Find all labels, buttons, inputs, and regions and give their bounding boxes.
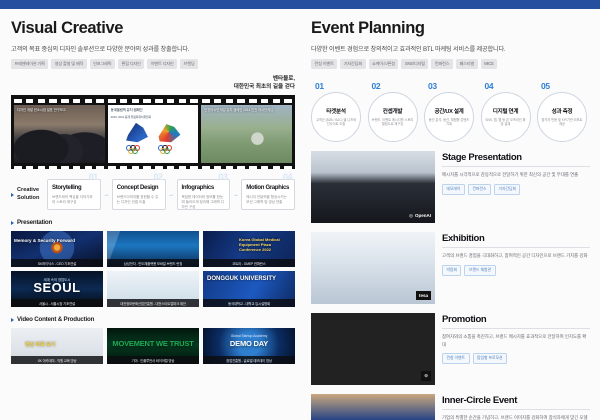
flow-step-desc: 메시지 전달력을 향상시키는 모션 그래픽 및 영상 연출: [246, 195, 290, 206]
flow-steps: 01 Storytelling 브랜드와의 핵심을 이야기하여 스토리 재구성 …: [47, 179, 295, 210]
process-step-title: 컨셉개발: [383, 107, 402, 115]
tag-pill[interactable]: MICE: [481, 59, 498, 69]
section-label-text: Video Content & Production: [17, 316, 94, 323]
thumb-overlay-text: Memory & Security Forward: [14, 238, 100, 244]
film-frame-aerial[interactable]: 인천아시안게임 유치 캠페인 2014 인천 아시안게임: [201, 105, 292, 163]
thumb-overlay-text: MOVEMENT WE TRUST: [107, 339, 199, 348]
process-step-2[interactable]: 02 컨셉개발 브랜드, 이벤트 메시지를 스토리텔링으로 재구성: [368, 81, 421, 142]
thumb-caption: 대전정보문화산업진흥원 - 대전스타트업파크 제안: [107, 299, 199, 307]
olympic-rings-icon: [126, 145, 148, 152]
process-step-5[interactable]: 05 성과 측정 참가자 반응 및 KPI기반 리포트 제공: [537, 81, 590, 142]
presentation-thumb[interactable]: Memory & Security Forward SK하이닉스 - CEO 기…: [11, 231, 103, 267]
subtitle-left: 고객의 목표 중심의 디자인 솔루션으로 다양한 분야의 성과를 창출합니다.: [11, 44, 295, 53]
process-step-1[interactable]: 01 타겟분석 고객군 (B2B / B2C) 별 니즈와 인사이트 도출: [311, 81, 364, 142]
tag-pill[interactable]: 페스티벌: [456, 59, 478, 69]
tag-pill[interactable]: 쇼케이스/론칭: [369, 59, 399, 69]
creative-solution-label-text: Creative Solution: [17, 187, 47, 202]
tag-pill[interactable]: 영상 촬영 및 제작: [51, 59, 86, 69]
process-step-number: 01: [311, 81, 364, 91]
card-description: 기업의 특별한 순간을 기념하고, 브랜드 이미지를 강화하여 참석자에게 맞긴…: [442, 414, 590, 420]
card-tag[interactable]: 박람회: [442, 265, 461, 276]
card-tag[interactable]: 데모데이: [442, 184, 465, 195]
service-card-stage-presentation[interactable]: ◎OpenAI Stage Presentation 메시지를 시각적으로 감동…: [311, 151, 590, 223]
thumb-caption: 서울시 - 서울시장 기조연설: [11, 299, 103, 307]
flow-step-motion-graphics[interactable]: 04 Motion Graphics 메시지 전달력을 향상시키는 모션 그래픽…: [241, 179, 295, 210]
creative-solution-label: Creative Solution: [11, 187, 47, 202]
thumb-overlay-text: DONGGUK UNIVERSITY: [207, 276, 292, 284]
card-image-promotion: ⊖: [311, 313, 435, 385]
service-card-inner-circle-event[interactable]: CJ4TEO Inner-Circle Event 기업의 특별한 순간을 기념…: [311, 394, 590, 420]
tag-pill[interactable]: SNS/디지털: [401, 59, 428, 69]
page-title-right: Event Planning: [311, 20, 590, 37]
film-frame-caption: 디자인 개발 컨소시엄 발표 연구보고: [17, 108, 102, 113]
process-step-title: 디지털 연계: [493, 107, 519, 115]
tag-pill[interactable]: 인포그래픽: [90, 59, 115, 69]
process-step-number: 02: [368, 81, 421, 91]
flow-arrow-icon: →: [166, 192, 177, 198]
two-column-layout: Visual Creative 고객의 목표 중심의 디자인 솔루션으로 다양한…: [0, 9, 600, 420]
process-step-title: 성과 측정: [552, 107, 573, 115]
card-image-inner-circle: CJ4TEO: [311, 394, 435, 420]
process-step-title: 타겟분석: [326, 107, 345, 115]
flow-step-storytelling[interactable]: 01 Storytelling 브랜드와의 핵심을 이야기하여 스토리 재구성: [47, 179, 101, 210]
process-step-3[interactable]: 03 공간/UX 설계 동선 분석, 동선, 체험형 콘텐츠 기획: [424, 81, 477, 142]
presentation-thumb[interactable]: 대전정보문화산업진흥원 - 대전스타트업파크 제안: [107, 271, 199, 307]
tesa-watermark: tesa: [416, 291, 431, 300]
process-step-number: 03: [424, 81, 477, 91]
top-accent-bar: [0, 0, 600, 9]
card-description: 메시지를 시각적으로 감동적으로 전달하기 위한 최신의 공간 및 무대를 연출: [442, 171, 590, 178]
triangle-bullet-icon: [11, 318, 14, 322]
card-tag[interactable]: 기자간담회: [494, 184, 520, 195]
process-step-number: 04: [481, 81, 534, 91]
card-image-stage: ◎OpenAI: [311, 151, 435, 223]
film-perforations-bottom: [11, 166, 295, 170]
thumb-caption: 코트라 - GMEP 컨퍼런스: [203, 259, 295, 267]
watermark-label: tesa: [416, 291, 431, 300]
flow-step-title: Concept Design: [117, 185, 161, 191]
card-body: Inner-Circle Event 기업의 특별한 순간을 기념하고, 브랜드…: [442, 394, 590, 420]
thumb-caption: SK 아카데미 - 직원 교육 영상: [11, 356, 103, 364]
tag-pill[interactable]: 이벤트 디자인: [147, 59, 177, 69]
openai-watermark: ◎OpenAI: [409, 213, 431, 219]
process-step-number: 05: [537, 81, 590, 91]
olympic-emblems: [108, 121, 199, 152]
video-thumb[interactable]: MOVEMENT WE TRUST 기아 - 인플루언서 바이어럴 영상: [107, 328, 199, 364]
flow-step-number: 03: [218, 172, 227, 182]
page-root: Visual Creative 고객의 목표 중심의 디자인 솔루션으로 다양한…: [0, 0, 600, 420]
video-thumb[interactable]: 영상 바로 보기 SK 아카데미 - 직원 교육 영상: [11, 328, 103, 364]
tagline-line-1: 벤타블로,: [11, 75, 295, 83]
card-tag[interactable]: 팝업형 프로모션: [473, 353, 508, 364]
flow-step-desc: 브랜드와의 핵심을 이야기하여 스토리 재구성: [52, 195, 96, 206]
thumb-caption: 삼성전자 - 반도체플랫폼 모바일 브랜드 런칭: [107, 259, 199, 267]
flow-step-number: 04: [283, 172, 292, 182]
subtitle-right: 다양한 이벤트 경험으로 창의적이고 효과적인 BTL 마케팅 서비스를 제공합…: [311, 44, 590, 53]
thumb-overlay-text: 영상 바로 보기: [25, 341, 55, 348]
brand-tagline: 벤타블로, 대한민국 최초의 길을 걷다: [11, 75, 295, 91]
thumb-overlay-text: SEOUL: [11, 280, 103, 295]
flow-step-desc: 브랜드이미지를 표현할 수 있는 디자인 컨셉 도출: [117, 195, 161, 206]
card-tag[interactable]: 브랜드 체험관: [464, 265, 495, 276]
brand-watermark: ⊖: [421, 371, 431, 381]
film-frame-olympics-poster[interactable]: 동계올림픽 유치 캠페인 2010, 2014 동계 올림픽유치위원회: [108, 105, 199, 163]
emblem-pyeongchang-2014: [156, 121, 182, 152]
flow-step-infographics[interactable]: 03 Infographics 복잡한 데이터와 정보를 한눈에 들어오게 정리…: [177, 179, 231, 210]
right-tag-list: 런칭 이벤트 기자간담회 쇼케이스/론칭 SNS/디지털 컨퍼런스 페스티벌 M…: [311, 59, 590, 69]
flow-step-desc: 복잡한 데이터와 정보를 한눈에 들어오게 정리해 그래픽 디자인 구성: [182, 195, 226, 211]
emblem-pyeongchang-2010: [124, 121, 150, 152]
card-image-exhibition: tesa: [311, 232, 435, 304]
page-title-left: Visual Creative: [11, 20, 295, 37]
flow-step-concept-design[interactable]: 02 Concept Design 브랜드이미지를 표현할 수 있는 디자인 컨…: [112, 179, 166, 210]
flow-step-title: Storytelling: [52, 185, 96, 191]
olympic-rings-icon: [158, 145, 180, 152]
card-tag-list: 박람회 브랜드 체험관: [442, 265, 590, 276]
left-column-visual-creative: Visual Creative 고객의 목표 중심의 디자인 솔루션으로 다양한…: [0, 9, 303, 420]
card-tag-list: 데모데이 컨퍼런스 기자간담회: [442, 184, 590, 195]
process-step-desc: SNS, 앱, 웹 등 온·오프라인 확장 설계: [485, 118, 527, 127]
section-label-presentation: Presentation: [11, 219, 295, 226]
flow-step-number: 01: [89, 172, 98, 182]
card-title: Stage Presentation: [442, 152, 590, 167]
video-thumb-grid: 영상 바로 보기 SK 아카데미 - 직원 교육 영상 MOVEMENT WE …: [11, 328, 295, 364]
card-title: Inner-Circle Event: [442, 395, 590, 410]
flow-arrow-icon: →: [101, 192, 112, 198]
thumb-overlay-text: DEMO DAY: [203, 339, 295, 348]
poster-title: 동계올림픽 유치 캠페인: [111, 108, 196, 113]
film-strip: 디자인 개발 컨소시엄 발표 연구보고 동계올림픽 유치 캠페인 2010, 2…: [11, 95, 295, 169]
film-frame-meeting[interactable]: 디자인 개발 컨소시엄 발표 연구보고: [14, 105, 105, 163]
card-body: Exhibition 고객의 브랜드 경험을 극대화하고, 참여적인 공간 디자…: [442, 232, 590, 304]
service-card-promotion[interactable]: ⊖ Promotion 참여자와의 소통을 촉진하고, 브랜드 메시지를 효과적…: [311, 313, 590, 385]
watermark-label: OpenAI: [415, 213, 431, 218]
tag-pill[interactable]: 기자간담회: [340, 59, 365, 69]
card-tag[interactable]: 컨퍼런스: [468, 184, 491, 195]
service-card-exhibition[interactable]: tesa Exhibition 고객의 브랜드 경험을 극대화하고, 참여적인 …: [311, 232, 590, 304]
card-description: 고객의 브랜드 경험을 극대화하고, 참여적인 공간 디자인으로 브랜드 가치를…: [442, 252, 590, 259]
card-body: Promotion 참여자와의 소통을 촉진하고, 브랜드 메시지를 효과적으로…: [442, 313, 590, 385]
tag-pill[interactable]: 컨퍼런스: [431, 59, 453, 69]
presentation-thumb[interactable]: DONGGUK UNIVERSITY 동국대학교 - 대학교 입시설명회: [203, 271, 295, 307]
thumb-caption: 동국대학교 - 대학교 입시설명회: [203, 299, 295, 307]
tag-pill[interactable]: 런칭 이벤트: [311, 59, 337, 69]
card-tag[interactable]: 런칭 이벤트: [442, 353, 470, 364]
card-title: Promotion: [442, 314, 590, 329]
presentation-thumb-grid: Memory & Security Forward SK하이닉스 - CEO 기…: [11, 231, 295, 307]
triangle-bullet-icon: [11, 193, 14, 197]
flow-step-title: Motion Graphics: [246, 185, 290, 191]
left-tag-list: 프레젠테이션 기획 영상 촬영 및 제작 인포그래픽 편집 디자인 이벤트 디자…: [11, 59, 295, 69]
brand-mark-icon: ⊖: [421, 371, 431, 381]
section-label-video: Video Content & Production: [11, 316, 295, 323]
tag-pill[interactable]: 프레젠테이션 기획: [11, 59, 48, 69]
process-step-desc: 참가자 반응 및 KPI기반 리포트 제공: [541, 118, 583, 127]
video-thumb[interactable]: Global Startup Academy DEMO DAY 창업진흥원 - …: [203, 328, 295, 364]
right-column-event-planning: Event Planning 다양한 이벤트 경험으로 창의적이고 효과적인 B…: [303, 9, 600, 420]
presentation-thumb[interactable]: 세계 속의 창업도시 SEOUL 서울시 - 서울시장 기조연설: [11, 271, 103, 307]
creative-solution-flow: Creative Solution 01 Storytelling 브랜드와의 …: [11, 179, 295, 210]
tag-pill[interactable]: 브랜딩: [180, 59, 198, 69]
card-body: Stage Presentation 메시지를 시각적으로 감동적으로 전달하기…: [442, 151, 590, 223]
thumb-caption: 창업진흥원 - 글로벌 데모데이 영상: [203, 356, 295, 364]
process-step-desc: 동선 분석, 동선, 체험형 콘텐츠 기획: [428, 118, 470, 127]
flow-step-number: 02: [153, 172, 162, 182]
presentation-thumb[interactable]: 삼성전자 - 반도체플랫폼 모바일 브랜드 런칭: [107, 231, 199, 267]
process-step-4[interactable]: 04 디지털 연계 SNS, 앱, 웹 등 온·오프라인 확장 설계: [481, 81, 534, 142]
process-step-desc: 고객군 (B2B / B2C) 별 니즈와 인사이트 도출: [315, 118, 357, 127]
thumb-overlay-small: Global Startup Academy: [203, 334, 295, 338]
film-frames: 디자인 개발 컨소시엄 발표 연구보고 동계올림픽 유치 캠페인 2010, 2…: [11, 103, 295, 166]
process-step-title: 공간/UX 설계: [434, 107, 463, 115]
tag-pill[interactable]: 편집 디자인: [118, 59, 144, 69]
film-frame-caption: 인천아시안게임 유치 캠페인 2014 인천 아시안게임: [204, 108, 289, 113]
thumb-caption: SK하이닉스 - CEO 기조연설: [11, 259, 103, 267]
thumb-caption: 기아 - 인플루언서 바이어럴 영상: [107, 356, 199, 364]
section-label-text: Presentation: [17, 219, 52, 226]
process-steps: 01 타겟분석 고객군 (B2B / B2C) 별 니즈와 인사이트 도출 02…: [311, 81, 590, 142]
tagline-line-2: 대한민국 최초의 길을 걷다: [11, 83, 295, 91]
flow-arrow-icon: →: [230, 192, 241, 198]
triangle-bullet-icon: [11, 221, 14, 225]
process-step-desc: 브랜드, 이벤트 메시지를 스토리텔링으로 재구성: [372, 118, 414, 127]
card-title: Exhibition: [442, 233, 590, 248]
flow-step-title: Infographics: [182, 185, 226, 191]
presentation-thumb[interactable]: Korea Global Medical Equipment Plaza Con…: [203, 231, 295, 267]
card-description: 참여자와의 소통을 촉진하고, 브랜드 메시지를 효과적으로 전달하여 인지도를…: [442, 333, 590, 348]
poster-subtitle: 2010, 2014 동계 올림픽유치위원회: [111, 115, 196, 119]
thumb-overlay-text: Korea Global Medical Equipment Plaza Con…: [239, 237, 292, 253]
card-tag-list: 런칭 이벤트 팝업형 프로모션: [442, 353, 590, 364]
